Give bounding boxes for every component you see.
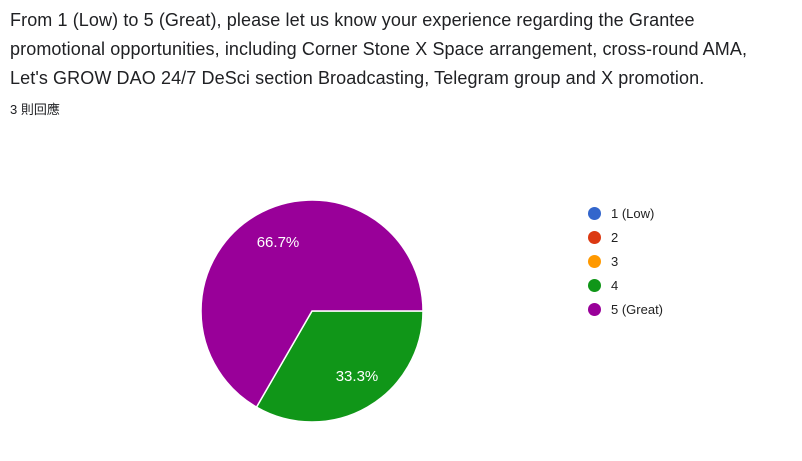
pie-slices [201, 200, 423, 422]
legend-item-label: 1 (Low) [611, 207, 654, 220]
legend-item-label: 2 [611, 231, 618, 244]
pie-slice-percent-label: 66.7% [257, 234, 300, 251]
legend-color-dot-icon [588, 303, 601, 316]
response-count: 3 則回應 [10, 101, 790, 119]
legend-color-dot-icon [588, 231, 601, 244]
legend-item[interactable]: 2 [588, 225, 788, 249]
legend-color-dot-icon [588, 207, 601, 220]
legend-item[interactable]: 3 [588, 249, 788, 273]
legend-item[interactable]: 5 (Great) [588, 297, 788, 321]
legend-color-dot-icon [588, 279, 601, 292]
pie-chart: 33.3%66.7% 1 (Low)2345 (Great) [0, 170, 802, 461]
pie-slice-percent-label: 33.3% [336, 368, 379, 385]
legend-color-dot-icon [588, 255, 601, 268]
question-block: From 1 (Low) to 5 (Great), please let us… [10, 6, 790, 119]
legend-item[interactable]: 4 [588, 273, 788, 297]
legend-item-label: 3 [611, 255, 618, 268]
chart-legend: 1 (Low)2345 (Great) [588, 201, 788, 321]
legend-item-label: 5 (Great) [611, 303, 663, 316]
legend-item[interactable]: 1 (Low) [588, 201, 788, 225]
legend-item-label: 4 [611, 279, 618, 292]
page-title: From 1 (Low) to 5 (Great), please let us… [10, 6, 790, 93]
